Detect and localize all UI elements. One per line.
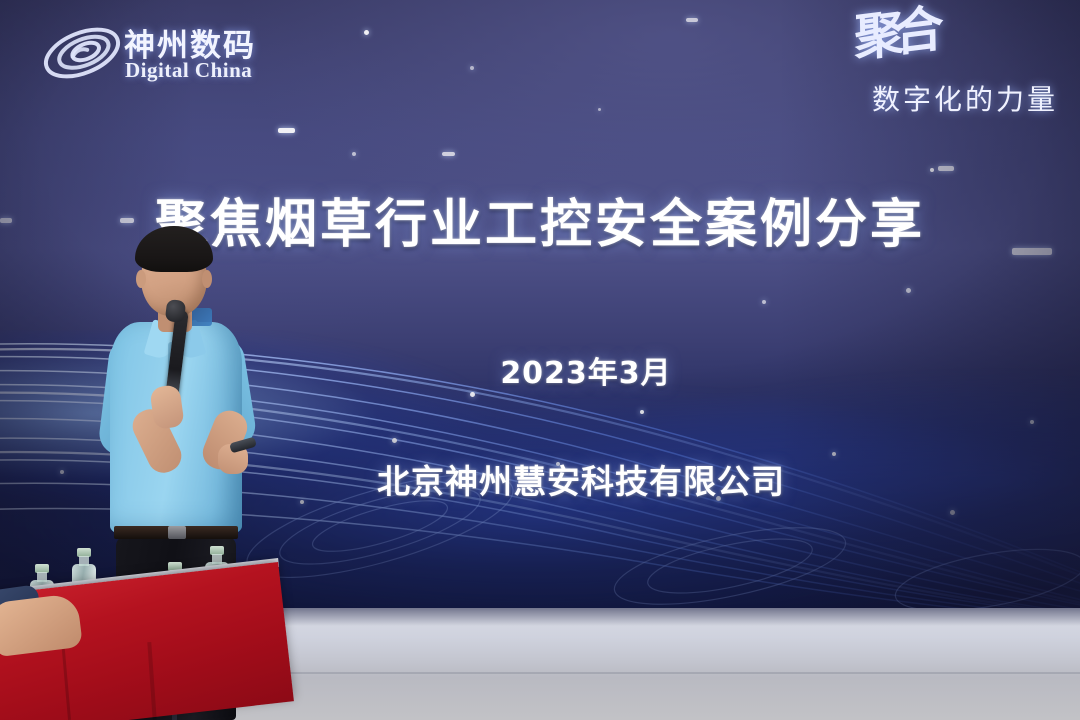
presenter-hair — [135, 226, 213, 272]
presenter-ear-left — [136, 270, 146, 288]
logo-english-name: Digital China — [125, 58, 252, 83]
conference-stage-photo: 神州数码 Digital China 聚合 数字化的力量 聚焦烟草行业工控安全案… — [0, 0, 1080, 720]
particle-dot — [392, 438, 397, 443]
particle-dash — [686, 18, 698, 22]
particle-dot — [470, 392, 475, 397]
particle-dash — [442, 152, 455, 156]
juhe-event-logo: 聚合 数字化的力量 — [788, 16, 1058, 116]
particle-dot — [930, 168, 934, 172]
particle-dot — [470, 66, 474, 70]
particle-dash — [278, 128, 295, 133]
presenter — [96, 218, 286, 618]
digital-china-logo: 神州数码 Digital China — [40, 14, 275, 90]
particle-dot — [364, 30, 369, 35]
spiral-swirl-icon — [40, 18, 124, 88]
particle-dash — [938, 166, 954, 171]
belt-buckle — [168, 526, 186, 539]
particle-dot — [640, 410, 644, 414]
particle-dot — [950, 510, 955, 515]
event-logo-calligraphy: 聚合 — [854, 7, 934, 60]
particle-dot — [598, 108, 601, 111]
event-logo-subtitle: 数字化的力量 — [872, 78, 1058, 118]
particle-dot — [352, 152, 356, 156]
seated-attendee-arm — [0, 593, 83, 657]
particle-dot — [906, 288, 911, 293]
presenter-ear-right — [202, 270, 212, 288]
particle-dot — [762, 300, 766, 304]
particle-dot — [1030, 420, 1034, 424]
